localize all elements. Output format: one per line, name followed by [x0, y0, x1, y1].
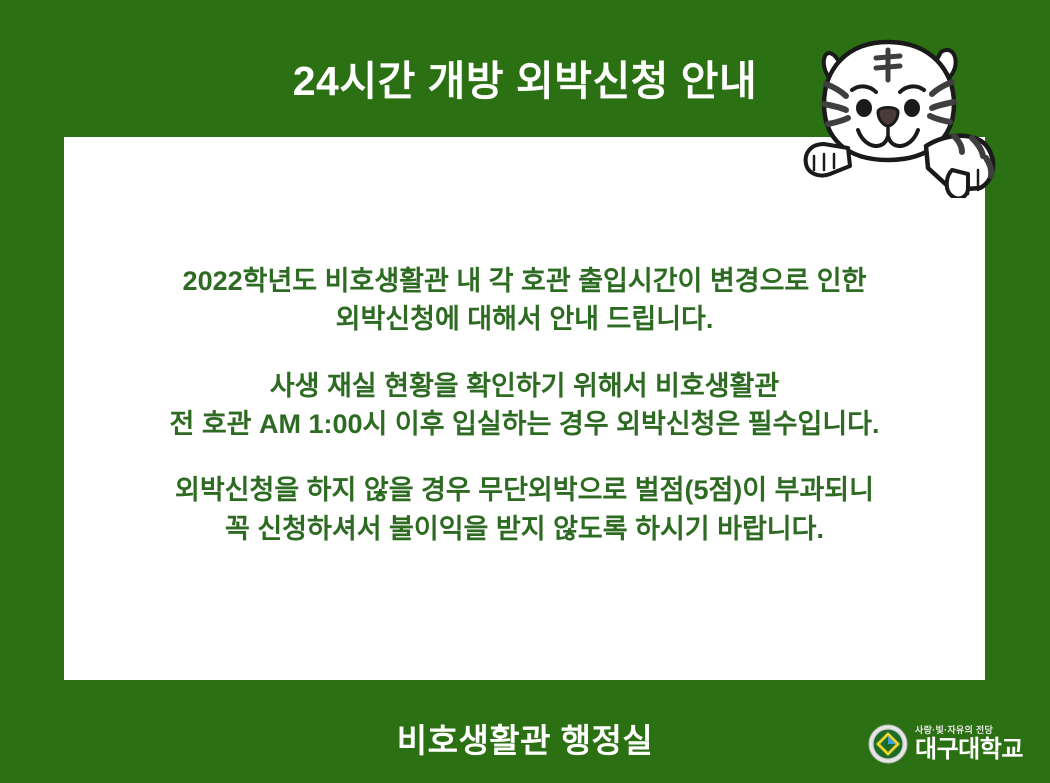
paragraph-2-line-2: 전 호관 AM 1:00시 이후 입실하는 경우 외박신청은 필수입니다.: [64, 405, 985, 443]
paragraph-1: 2022학년도 비호생활관 내 각 호관 출입시간이 변경으로 인한 외박신청에…: [64, 262, 985, 339]
university-seal-icon: [868, 724, 908, 764]
university-logo: 사랑·빛·자유의 전당 대구대학교: [868, 716, 1044, 772]
white-tiger-mascot-icon: [802, 18, 1024, 198]
university-name: 대구대학교: [915, 738, 1023, 762]
notice-poster: 24시간 개방 외박신청 안내: [0, 0, 1050, 783]
paragraph-3-line-1: 외박신청을 하지 않을 경우 무단외박으로 벌점(5점)이 부과되니: [64, 471, 985, 509]
university-wordmark: 사랑·빛·자유의 전당 대구대학교: [915, 726, 1023, 762]
notice-body: 2022학년도 비호생활관 내 각 호관 출입시간이 변경으로 인한 외박신청에…: [64, 262, 985, 548]
paragraph-2-line-1: 사생 재실 현황을 확인하기 위해서 비호생활관: [64, 367, 985, 405]
paragraph-2: 사생 재실 현황을 확인하기 위해서 비호생활관 전 호관 AM 1:00시 이…: [64, 367, 985, 444]
paragraph-3: 외박신청을 하지 않을 경우 무단외박으로 벌점(5점)이 부과되니 꼭 신청하…: [64, 471, 985, 548]
university-tagline: 사랑·빛·자유의 전당: [915, 726, 1023, 735]
paragraph-1-line-2: 외박신청에 대해서 안내 드립니다.: [64, 300, 985, 338]
paragraph-3-line-2: 꼭 신청하셔서 불이익을 받지 않도록 하시기 바랍니다.: [64, 510, 985, 548]
paragraph-1-line-1: 2022학년도 비호생활관 내 각 호관 출입시간이 변경으로 인한: [64, 262, 985, 300]
